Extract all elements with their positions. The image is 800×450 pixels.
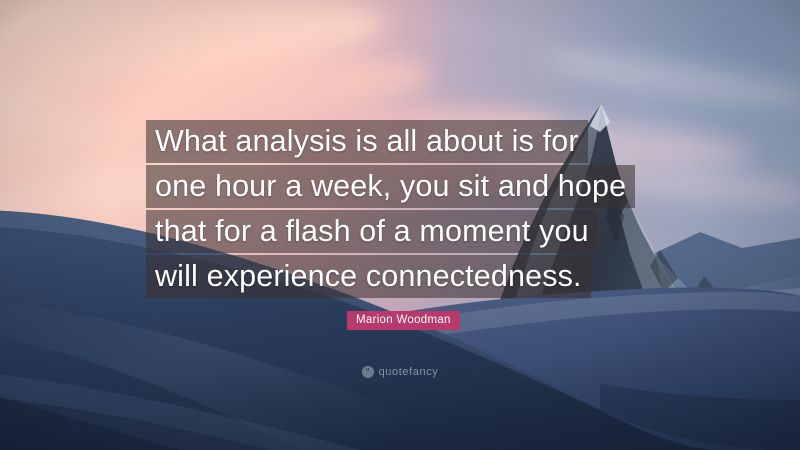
quote-line: one hour a week, you sit and hope: [146, 165, 635, 208]
quote-line: that for a flash of a moment you: [146, 210, 598, 253]
quote-line: What analysis is all about is for: [146, 120, 588, 163]
watermark[interactable]: “ quotefancy: [0, 366, 800, 378]
quote-poster: What analysis is all about is for one ho…: [0, 0, 800, 450]
author-badge[interactable]: Marion Woodman: [347, 311, 460, 330]
watermark-brand: quotefancy: [379, 366, 439, 378]
quote-line: will experience connectedness.: [146, 255, 591, 298]
quote-text: What analysis is all about is for one ho…: [146, 120, 706, 300]
quote-mark-icon: “: [362, 366, 374, 378]
